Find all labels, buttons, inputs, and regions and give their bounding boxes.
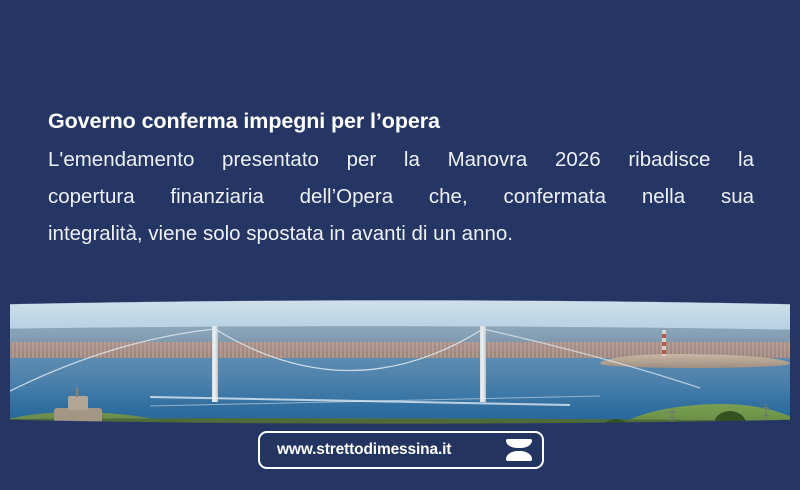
bridge-logo-icon [504,437,534,463]
photo-bottom-strip [0,473,800,482]
photo-left-edge [0,300,10,490]
text-block: Governo conferma impegni per l’opera L'e… [48,106,754,252]
news-card: Governo conferma impegni per l’opera L'e… [0,0,800,490]
website-url-text: www.strettodimessina.it [277,441,451,459]
water-tower-icon [54,388,102,448]
logo-band-top [506,439,532,448]
article-body-line-1: L'emendamento presentato per la Manovra … [48,141,754,178]
article-body-line-2: copertura finanziaria dell’Opera che, co… [48,178,754,215]
article-body-line-3: integralità, viene solo spostata in avan… [48,215,754,252]
page-title: Governo conferma impegni per l’opera [48,106,754,136]
photo-right-edge [790,300,800,490]
article-body: L'emendamento presentato per la Manovra … [48,141,754,252]
logo-band-bottom [506,451,532,461]
website-url-banner[interactable]: www.strettodimessina.it [258,431,544,469]
